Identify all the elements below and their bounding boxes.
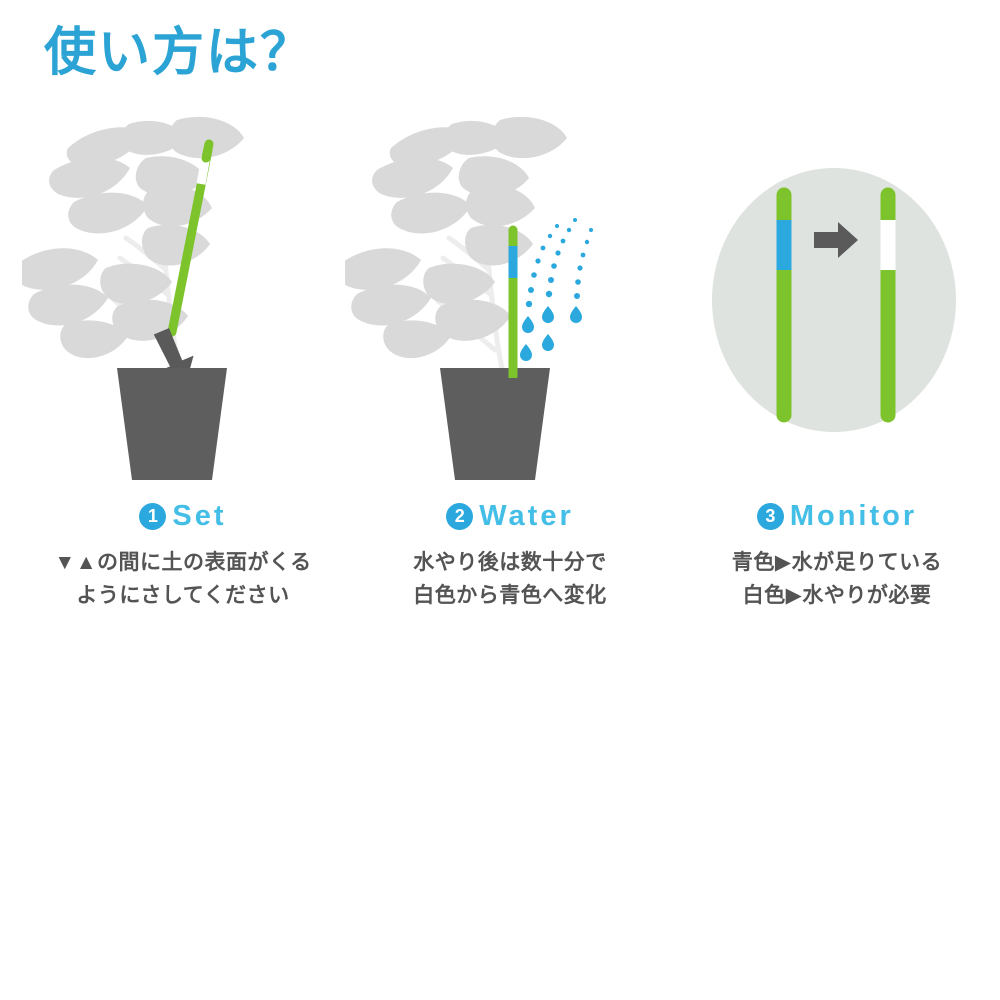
step-2-heading: 2 Water — [345, 495, 675, 537]
step-2-line-1: 水やり後は数十分で — [345, 547, 675, 580]
plant-leaves-icon — [345, 117, 567, 358]
step-2-number-badge: 2 — [446, 503, 473, 530]
step-2-illustration — [345, 110, 665, 500]
step-3-description: 青色▶水が足りている 白色▶水やりが必要 — [672, 547, 1000, 612]
step-2-caption: 2 Water 水やり後は数十分で 白色から青色へ変化 — [345, 495, 675, 612]
step-2-name: Water — [479, 502, 574, 531]
step-1-line-1: ▼▲の間に土の表面がくる — [18, 547, 348, 580]
step-1-number-badge: 1 — [139, 503, 166, 530]
usage-instructions-page: 使い方は？ — [0, 0, 1000, 1000]
step-3-name: Monitor — [790, 502, 917, 531]
plant-pot-tilted-stick-art — [22, 110, 342, 500]
page-title: 使い方は？ — [44, 24, 314, 84]
step-3-line-1: 青色▶水が足りている — [672, 547, 1000, 580]
step-2-line-2: 白色から青色へ変化 — [345, 580, 675, 613]
step-1-line-2: ようにさしてください — [18, 580, 348, 613]
step-3-number-badge: 3 — [757, 503, 784, 530]
plant-pot-watering-art — [345, 110, 665, 500]
step-1-caption: 1 Set ▼▲の間に土の表面がくる ようにさしてください — [18, 495, 348, 612]
comparison-background-circle — [712, 168, 956, 432]
step-1-name: Set — [172, 502, 226, 531]
step-1-description: ▼▲の間に土の表面がくる ようにさしてください — [18, 547, 348, 612]
step-1-heading: 1 Set — [18, 495, 348, 537]
step-3-illustration — [672, 110, 992, 500]
step-3-heading: 3 Monitor — [672, 495, 1000, 537]
step-3-caption: 3 Monitor 青色▶水が足りている 白色▶水やりが必要 — [672, 495, 1000, 612]
step-1-illustration — [22, 110, 342, 500]
step-2-description: 水やり後は数十分で 白色から青色へ変化 — [345, 547, 675, 612]
stick-color-comparison-art — [672, 110, 992, 500]
step-3-line-2: 白色▶水やりが必要 — [672, 580, 1000, 613]
flower-pot-icon — [440, 368, 550, 480]
flower-pot-icon — [117, 368, 227, 480]
